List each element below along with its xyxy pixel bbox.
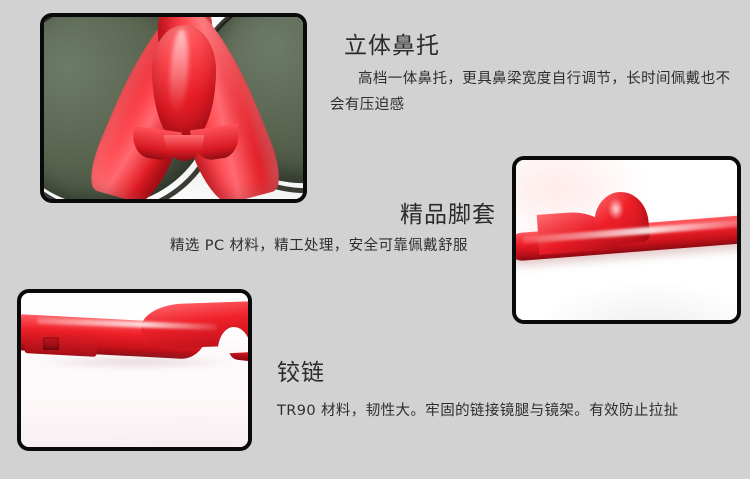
product-photo-nose-pad (40, 13, 307, 203)
feature-body-hinge: TR90 材料，韧性大。牢固的链接镜腿与镜架。有效防止拉扯 (277, 398, 697, 424)
photo-nose-pad-canvas (44, 17, 303, 199)
hinge-drop-shadow (31, 355, 241, 369)
hinge-metal-plate (24, 331, 97, 357)
photo-hinge-canvas (21, 293, 248, 447)
feature-heading-temple-tip: 精品脚套 (400, 203, 496, 227)
product-detail-page: 立体鼻托 高档一体鼻托，更具鼻梁宽度自行调节，长时间佩戴也不会有压迫感 精品脚套… (0, 0, 750, 479)
temple-tip-hook (591, 189, 650, 246)
temple-tip-highlight (608, 198, 624, 220)
hinge-screw (43, 337, 59, 350)
product-photo-temple-tip (512, 156, 741, 324)
feature-body-temple-tip: 精选 PC 材料，精工处理，安全可靠佩戴舒服 (170, 233, 510, 259)
product-photo-hinge (17, 289, 252, 451)
feature-heading-nose-pad: 立体鼻托 (344, 34, 440, 58)
feature-heading-hinge: 铰链 (277, 361, 325, 385)
photo-temple-tip-canvas (516, 160, 737, 320)
feature-body-nose-pad: 高档一体鼻托，更具鼻梁宽度自行调节，长时间佩戴也不会有压迫感 (330, 66, 745, 118)
